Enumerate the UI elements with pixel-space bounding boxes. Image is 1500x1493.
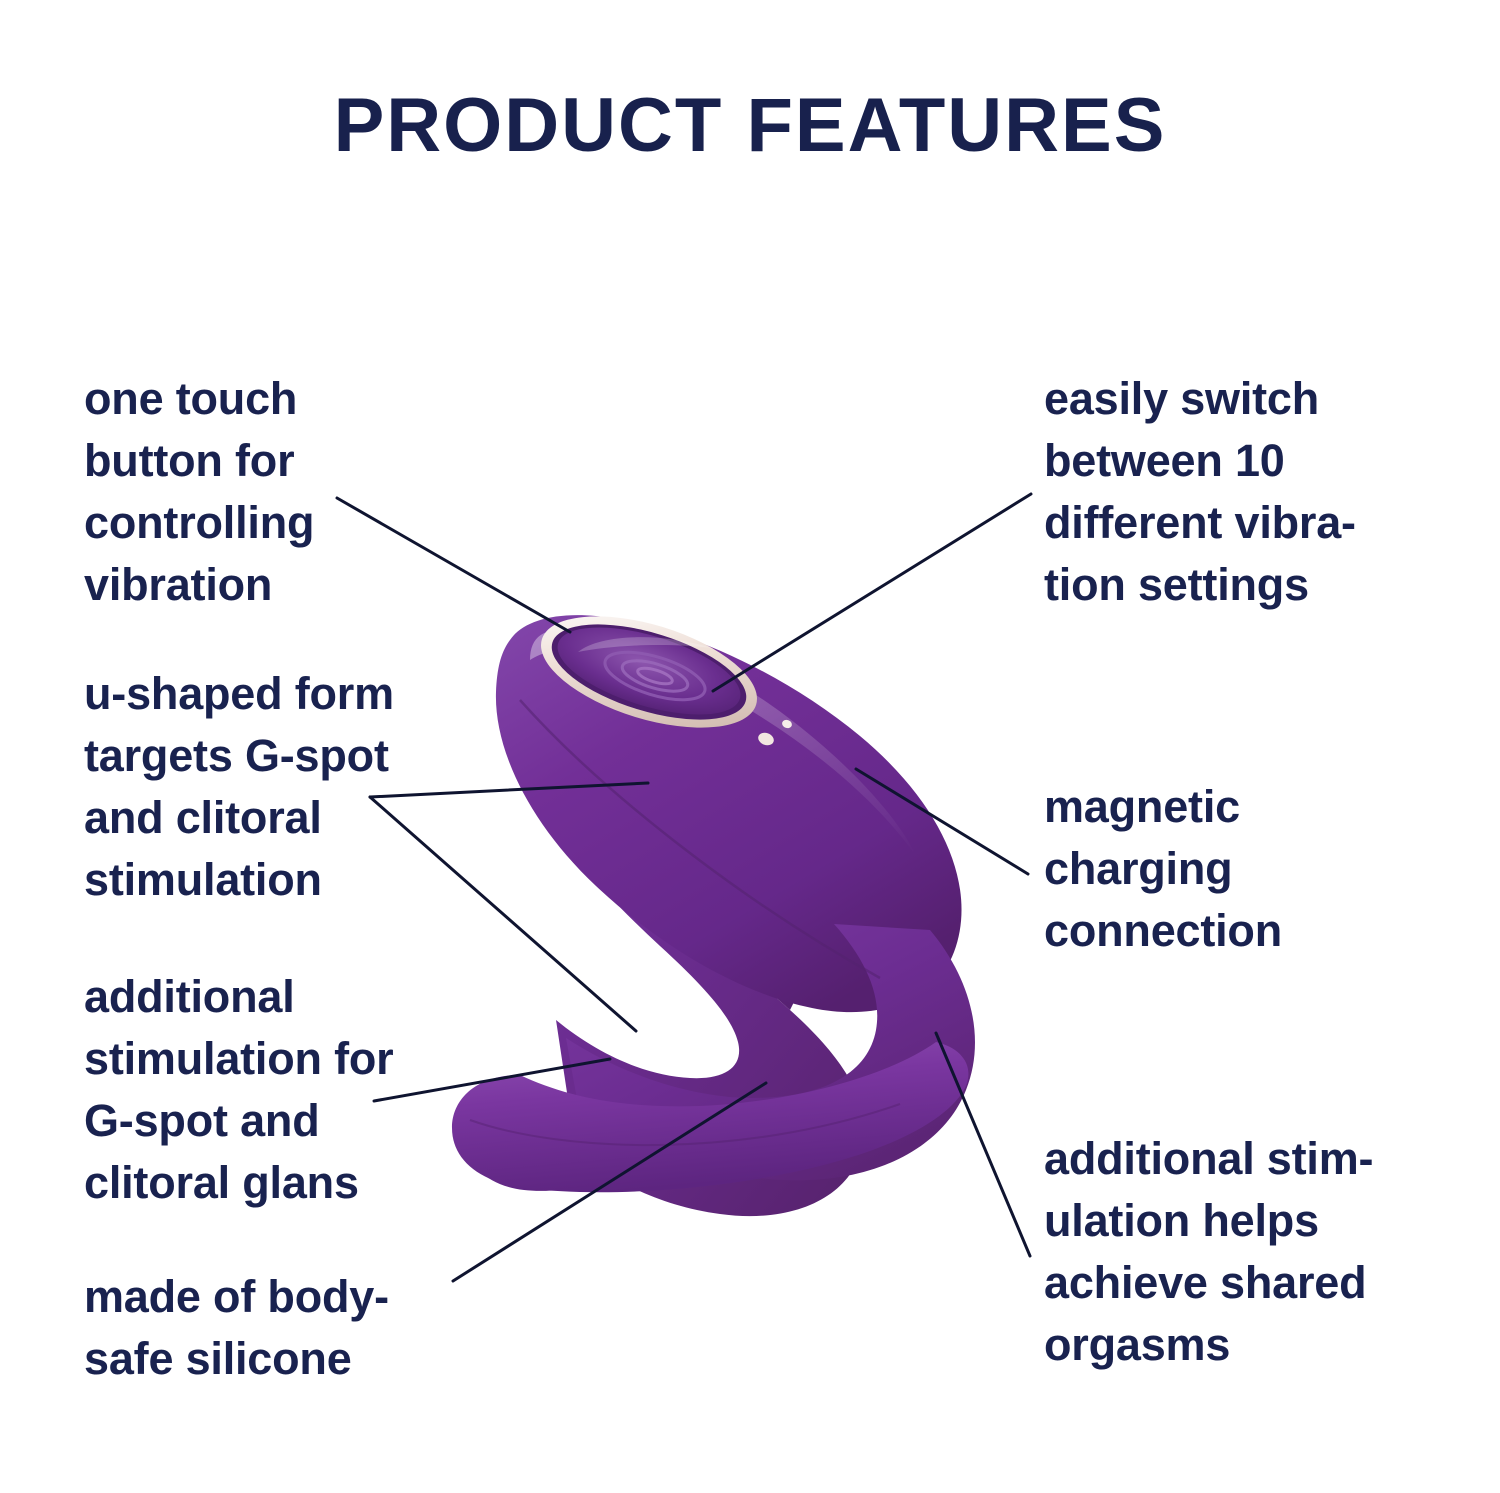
callout-one-touch-button: one touch button for controlling vibrati… [84, 368, 484, 616]
callout-shared-orgasms: additional stim- ulation helps achieve s… [1044, 1128, 1464, 1376]
callout-body-safe-silicone: made of body- safe silicone [84, 1266, 484, 1390]
leader-line-magnetic [856, 769, 1028, 874]
leader-line-vibration-settings [713, 494, 1031, 691]
product-features-infographic: PRODUCT FEATURES [0, 0, 1500, 1493]
callout-additional-stimulation-gspot: additional stimulation for G-spot and cl… [84, 966, 484, 1214]
leader-line-shared-orgasms [936, 1033, 1030, 1256]
callout-u-shaped-form: u-shaped form targets G-spot and clitora… [84, 663, 484, 911]
callout-magnetic-charging: magnetic charging connection [1044, 776, 1444, 962]
leader-line-silicone [453, 1083, 766, 1281]
callout-vibration-settings: easily switch between 10 different vibra… [1044, 368, 1444, 616]
